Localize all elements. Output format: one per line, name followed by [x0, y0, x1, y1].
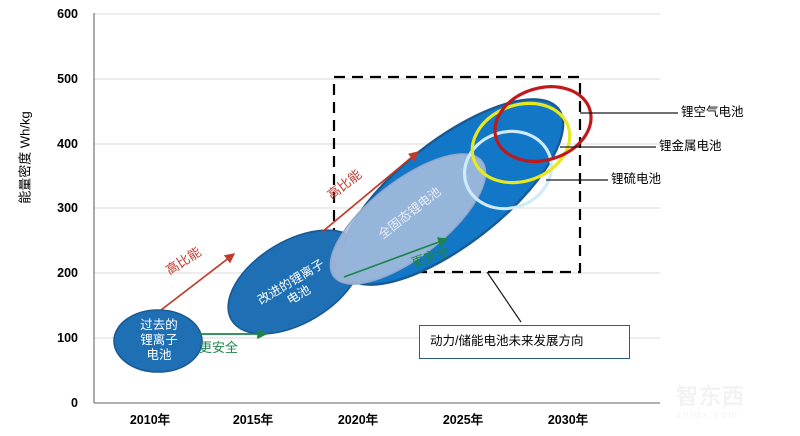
x-tick-2025: 2025年	[418, 414, 508, 427]
chart-canvas: 600 500 400 300 200 100 0 能量密度 Wh/kg 201…	[0, 0, 800, 436]
bubble-past-li-ion	[114, 310, 202, 372]
y-tick-300: 300	[32, 202, 78, 215]
x-tick-2020: 2020年	[313, 414, 403, 427]
y-axis-title: 能量密度 Wh/kg	[19, 87, 34, 227]
future-direction-callout-text: 动力/储能电池未来发展方向	[430, 335, 583, 348]
y-tick-200: 200	[32, 267, 78, 280]
y-tick-600: 600	[32, 8, 78, 21]
chart-svg-layer	[0, 0, 800, 436]
side-label-li-air: 锂空气电池	[681, 106, 744, 119]
side-label-li-sulfur: 锂硫电池	[611, 173, 661, 186]
future-direction-callout-box: 动力/储能电池未来发展方向	[419, 325, 630, 359]
side-label-li-metal: 锂金属电池	[659, 140, 722, 153]
leader-line-note	[487, 272, 521, 322]
x-tick-2030: 2030年	[523, 414, 613, 427]
y-tick-100: 100	[32, 332, 78, 345]
y-tick-500: 500	[32, 73, 78, 86]
y-tick-400: 400	[32, 138, 78, 151]
annotation-safer-1: 更安全	[199, 341, 238, 354]
x-tick-2010: 2010年	[105, 414, 195, 427]
gridlines	[94, 14, 660, 338]
x-tick-2015: 2015年	[208, 414, 298, 427]
y-tick-0: 0	[32, 397, 78, 410]
